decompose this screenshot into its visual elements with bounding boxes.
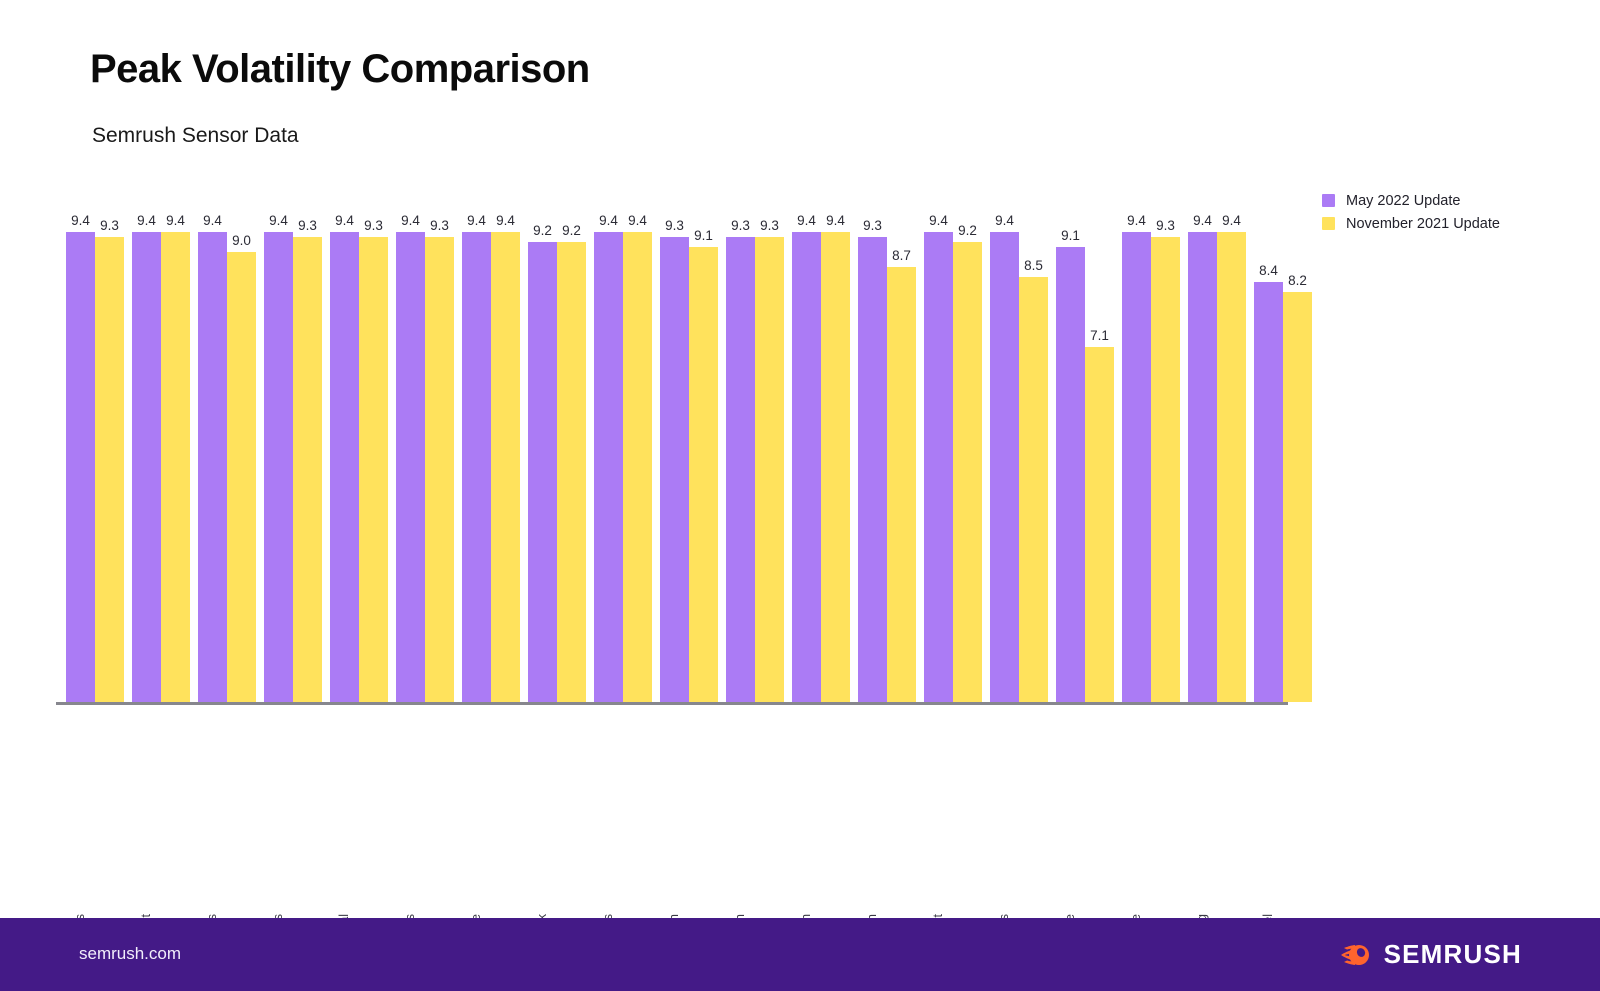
bar[interactable] xyxy=(1019,277,1048,702)
legend-swatch-icon xyxy=(1322,194,1335,207)
bar-column[interactable]: 9.3 xyxy=(660,200,689,702)
bar-column[interactable]: 9.3 xyxy=(858,200,887,702)
bar-value-label: 9.3 xyxy=(298,219,317,233)
bar-value-label: 9.4 xyxy=(1127,214,1146,228)
bar-column[interactable]: 9.3 xyxy=(726,200,755,702)
footer-website-url: semrush.com xyxy=(79,944,181,964)
bar-value-label: 9.4 xyxy=(826,214,845,228)
bar-value-label: 9.4 xyxy=(203,214,222,228)
bar[interactable] xyxy=(161,232,190,702)
bar[interactable] xyxy=(990,232,1019,702)
bar-column[interactable]: 9.3 xyxy=(293,200,322,702)
bar-value-label: 9.4 xyxy=(797,214,816,228)
bar-group: 9.48.5Pets & Animals xyxy=(990,200,1048,702)
bar-group: 9.49.3Computers & Electronics xyxy=(396,200,454,702)
bar-group: 9.49.3All categories xyxy=(66,200,124,702)
bar-column[interactable]: 9.3 xyxy=(1151,200,1180,702)
bar[interactable] xyxy=(1122,232,1151,702)
bar[interactable] xyxy=(924,232,953,702)
legend-item[interactable]: May 2022 Update xyxy=(1322,192,1500,209)
bar-value-label: 8.7 xyxy=(892,249,911,263)
x-axis-category-label: Pets & Animals xyxy=(990,908,1019,918)
bar-value-label: 9.3 xyxy=(731,219,750,233)
bar-column[interactable]: 7.1 xyxy=(1085,200,1114,702)
x-axis-category-label: Science xyxy=(1122,908,1151,918)
legend-swatch-icon xyxy=(1322,217,1335,230)
legend-item-label: May 2022 Update xyxy=(1346,193,1460,209)
page-title: Peak Volatility Comparison xyxy=(90,47,590,92)
bar-value-label: 9.3 xyxy=(364,219,383,233)
bar[interactable] xyxy=(1188,232,1217,702)
bar-column[interactable]: 9.4 xyxy=(821,200,850,702)
bar-value-label: 9.1 xyxy=(694,229,713,243)
bar-group: 9.49.2Law & Government xyxy=(924,200,982,702)
bar-column[interactable]: 9.4 xyxy=(623,200,652,702)
bar-group: 9.49.4Internet & Telecom xyxy=(792,200,850,702)
x-axis-category-label: Internet & Telecom xyxy=(792,908,821,918)
bar-group: 9.29.2Food & Drink xyxy=(528,200,586,702)
bar-group: 9.17.1Real Estate xyxy=(1056,200,1114,702)
bar-column[interactable]: 9.4 xyxy=(264,200,293,702)
bar-value-label: 8.2 xyxy=(1288,274,1307,288)
bar[interactable] xyxy=(858,237,887,702)
bar[interactable] xyxy=(557,242,586,702)
bar-value-label: 9.4 xyxy=(496,214,515,228)
bar[interactable] xyxy=(396,232,425,702)
x-axis-category-label: Jobs & Education xyxy=(858,908,887,918)
bar-group: 9.38.7Jobs & Education xyxy=(858,200,916,702)
bar-value-label: 9.4 xyxy=(401,214,420,228)
bar-value-label: 8.5 xyxy=(1024,259,1043,273)
bar-column[interactable]: 9.4 xyxy=(1217,200,1246,702)
bar[interactable] xyxy=(330,232,359,702)
bar-value-label: 9.4 xyxy=(335,214,354,228)
bar[interactable] xyxy=(726,237,755,702)
bar-column[interactable]: 8.4 xyxy=(1254,200,1283,702)
bar[interactable] xyxy=(293,237,322,702)
legend-item[interactable]: November 2021 Update xyxy=(1322,215,1500,232)
bar-column[interactable]: 9.4 xyxy=(396,200,425,702)
semrush-logo: SEMRUSH xyxy=(1340,939,1522,970)
chart-legend: May 2022 UpdateNovember 2021 Update xyxy=(1322,192,1500,232)
x-axis-line xyxy=(56,702,1288,705)
bar-value-label: 9.4 xyxy=(71,214,90,228)
x-axis-category-label: All categories xyxy=(66,908,95,918)
bar-group: 9.49.4Games xyxy=(594,200,652,702)
footer-bar: semrush.com SEMRUSH xyxy=(0,918,1600,991)
bar[interactable] xyxy=(1056,247,1085,702)
bar-group: 9.49.3Beauty & Fitness xyxy=(264,200,322,702)
bar[interactable] xyxy=(462,232,491,702)
bar[interactable] xyxy=(198,232,227,702)
bar-group: 9.49.3Business & Industrial xyxy=(330,200,388,702)
bar-value-label: 9.0 xyxy=(232,234,251,248)
bar-group: 9.49.4Shopping xyxy=(1188,200,1246,702)
bar-column[interactable]: 9.4 xyxy=(924,200,953,702)
bar[interactable] xyxy=(887,267,916,702)
bar[interactable] xyxy=(491,232,520,702)
bar-value-label: 9.4 xyxy=(599,214,618,228)
bar-group: 9.49.0Autos & Vehicles xyxy=(198,200,256,702)
bar[interactable] xyxy=(66,232,95,702)
bar-value-label: 9.3 xyxy=(665,219,684,233)
semrush-comet-icon xyxy=(1340,940,1372,970)
bar-value-label: 9.4 xyxy=(1222,214,1241,228)
bar-column[interactable]: 9.4 xyxy=(132,200,161,702)
bar-column[interactable]: 9.4 xyxy=(198,200,227,702)
bar[interactable] xyxy=(1085,347,1114,702)
bar[interactable] xyxy=(95,237,124,702)
bar[interactable] xyxy=(623,232,652,702)
bar-column[interactable]: 9.4 xyxy=(330,200,359,702)
bar[interactable] xyxy=(689,247,718,702)
bar-column[interactable]: 9.0 xyxy=(227,200,256,702)
x-axis-category-label: Food & Drink xyxy=(528,908,557,918)
bar-column[interactable]: 9.2 xyxy=(953,200,982,702)
bar[interactable] xyxy=(1217,232,1246,702)
bar[interactable] xyxy=(359,237,388,702)
bar[interactable] xyxy=(1283,292,1312,702)
bar-group: 9.39.3Home & Garden xyxy=(726,200,784,702)
x-axis-category-label: Autos & Vehicles xyxy=(198,908,227,918)
x-axis-category-label: Beauty & Fitness xyxy=(264,908,293,918)
bar-group: 9.49.4Finance xyxy=(462,200,520,702)
bar-value-label: 9.3 xyxy=(430,219,449,233)
bar-value-label: 8.4 xyxy=(1259,264,1278,278)
bar-value-label: 9.4 xyxy=(467,214,486,228)
bar-column[interactable]: 9.1 xyxy=(689,200,718,702)
bar-value-label: 9.4 xyxy=(929,214,948,228)
bar[interactable] xyxy=(821,232,850,702)
bar[interactable] xyxy=(227,252,256,702)
bar-column[interactable]: 9.3 xyxy=(755,200,784,702)
bar-value-label: 9.4 xyxy=(628,214,647,228)
bar[interactable] xyxy=(132,232,161,702)
slide-canvas: Peak Volatility Comparison Semrush Senso… xyxy=(0,0,1600,991)
bar-column[interactable]: 9.4 xyxy=(990,200,1019,702)
bar-value-label: 9.4 xyxy=(137,214,156,228)
x-axis-category-label: Arts & Entertainment xyxy=(132,908,161,918)
bar-column[interactable]: 9.3 xyxy=(95,200,124,702)
bar-column[interactable]: 9.4 xyxy=(1122,200,1151,702)
bar-column[interactable]: 9.1 xyxy=(1056,200,1085,702)
bar[interactable] xyxy=(755,237,784,702)
x-axis-category-label: Finance xyxy=(462,908,491,918)
x-axis-category-label: Computers & Electronics xyxy=(396,908,425,918)
x-axis-category-label: Travel xyxy=(1254,908,1283,918)
bar[interactable] xyxy=(528,242,557,702)
bar-column[interactable]: 9.4 xyxy=(792,200,821,702)
bar-column[interactable]: 8.2 xyxy=(1283,200,1312,702)
bar-column[interactable]: 9.3 xyxy=(359,200,388,702)
bar-group: 9.49.3Science xyxy=(1122,200,1180,702)
x-axis-category-label: Law & Government xyxy=(924,908,953,918)
bar[interactable] xyxy=(1151,237,1180,702)
bar[interactable] xyxy=(660,237,689,702)
bar-column[interactable]: 9.4 xyxy=(594,200,623,702)
x-axis-category-label: Games xyxy=(594,908,623,918)
bar[interactable] xyxy=(264,232,293,702)
bar-value-label: 9.4 xyxy=(995,214,1014,228)
bar-column[interactable]: 9.4 xyxy=(491,200,520,702)
bar-value-label: 9.4 xyxy=(269,214,288,228)
bar-column[interactable]: 8.7 xyxy=(887,200,916,702)
bar-column[interactable]: 9.4 xyxy=(161,200,190,702)
bar[interactable] xyxy=(792,232,821,702)
bar-value-label: 9.2 xyxy=(533,224,552,238)
bar-value-label: 9.2 xyxy=(562,224,581,238)
bar-value-label: 9.3 xyxy=(863,219,882,233)
bar[interactable] xyxy=(1254,282,1283,702)
x-axis-category-label: Shopping xyxy=(1188,908,1217,918)
bar-value-label: 9.3 xyxy=(1156,219,1175,233)
bar-value-label: 9.4 xyxy=(166,214,185,228)
bar-group: 9.49.4Arts & Entertainment xyxy=(132,200,190,702)
page-subtitle: Semrush Sensor Data xyxy=(92,124,299,148)
bar-group: 9.39.1Health xyxy=(660,200,718,702)
bar-value-label: 9.3 xyxy=(100,219,119,233)
bar-chart-plot-area: 9.49.3All categories9.49.4Arts & Enterta… xyxy=(56,200,1288,705)
bar-column[interactable]: 9.2 xyxy=(557,200,586,702)
bar-group: 8.48.2Travel xyxy=(1254,200,1312,702)
bar-column[interactable]: 8.5 xyxy=(1019,200,1048,702)
bar-column[interactable]: 9.3 xyxy=(425,200,454,702)
x-axis-category-label: Health xyxy=(660,908,689,918)
bar-column[interactable]: 9.4 xyxy=(66,200,95,702)
bar-value-label: 9.1 xyxy=(1061,229,1080,243)
bar-column[interactable]: 9.2 xyxy=(528,200,557,702)
x-axis-category-label: Real Estate xyxy=(1056,908,1085,918)
bar-column[interactable]: 9.4 xyxy=(462,200,491,702)
bar-value-label: 9.2 xyxy=(958,224,977,238)
bar[interactable] xyxy=(594,232,623,702)
legend-item-label: November 2021 Update xyxy=(1346,216,1500,232)
x-axis-category-label: Business & Industrial xyxy=(330,908,359,918)
semrush-wordmark: SEMRUSH xyxy=(1384,939,1522,970)
bar[interactable] xyxy=(953,242,982,702)
bar[interactable] xyxy=(425,237,454,702)
x-axis-category-label: Home & Garden xyxy=(726,908,755,918)
bar-value-label: 7.1 xyxy=(1090,329,1109,343)
bar-value-label: 9.4 xyxy=(1193,214,1212,228)
bar-value-label: 9.3 xyxy=(760,219,779,233)
bar-column[interactable]: 9.4 xyxy=(1188,200,1217,702)
